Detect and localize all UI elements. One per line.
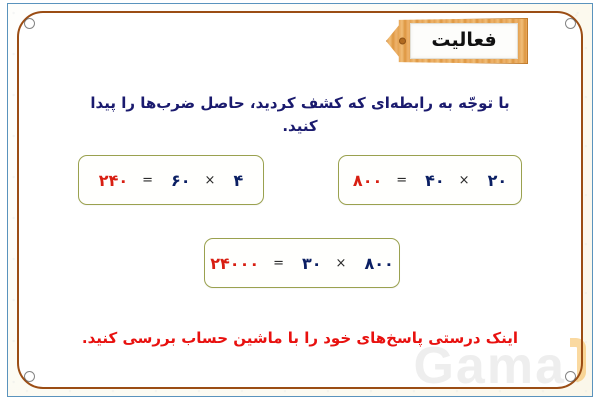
activity-banner: فعالیت bbox=[386, 18, 528, 64]
equation-1-equals: = bbox=[142, 173, 153, 188]
corner-ring-bottom-right-icon bbox=[565, 371, 576, 382]
banner-label-plate: فعالیت bbox=[410, 23, 518, 59]
equation-2: ۲۰ × ۴۰ = ۸۰۰ bbox=[353, 171, 507, 190]
corner-ring-bottom-left-icon bbox=[24, 371, 35, 382]
slide-root: Gama فعالیت با توجّه به رابطه‌ای که کشف … bbox=[0, 0, 600, 400]
equation-2-left: ۲۰ bbox=[488, 171, 508, 190]
equation-3-equals: = bbox=[273, 256, 284, 271]
equation-1-right: ۶۰ bbox=[171, 171, 191, 190]
nail-icon bbox=[399, 38, 406, 45]
calculator-check-note: اینک درستی پاسخ‌های خود را با ماشین حساب… bbox=[60, 328, 540, 349]
corner-ring-top-right-icon bbox=[565, 18, 576, 29]
equation-2-equals: = bbox=[396, 173, 407, 188]
equation-box-3: ۸۰۰ × ۳۰ = ۲۴۰۰۰ bbox=[204, 238, 400, 288]
equation-3-left: ۸۰۰ bbox=[364, 254, 393, 273]
banner-title: فعالیت bbox=[431, 31, 496, 50]
equation-2-operator: × bbox=[459, 173, 470, 188]
equation-box-2: ۲۰ × ۴۰ = ۸۰۰ bbox=[338, 155, 522, 205]
equation-3: ۸۰۰ × ۳۰ = ۲۴۰۰۰ bbox=[210, 254, 393, 273]
equation-3-result: ۲۴۰۰۰ bbox=[210, 254, 259, 273]
equation-1-operator: × bbox=[205, 173, 216, 188]
equation-1-left: ۴ bbox=[233, 171, 243, 190]
equation-3-right: ۳۰ bbox=[302, 254, 322, 273]
equation-1-result: ۲۴۰ bbox=[99, 171, 128, 190]
equation-box-1: ۴ × ۶۰ = ۲۴۰ bbox=[78, 155, 264, 205]
equation-3-operator: × bbox=[336, 256, 347, 271]
equation-1: ۴ × ۶۰ = ۲۴۰ bbox=[99, 171, 243, 190]
equation-2-result: ۸۰۰ bbox=[353, 171, 382, 190]
corner-ring-top-left-icon bbox=[24, 18, 35, 29]
instruction-text: با توجّه به رابطه‌ای که کشف کردید، حاصل … bbox=[80, 92, 520, 137]
equation-2-right: ۴۰ bbox=[425, 171, 445, 190]
